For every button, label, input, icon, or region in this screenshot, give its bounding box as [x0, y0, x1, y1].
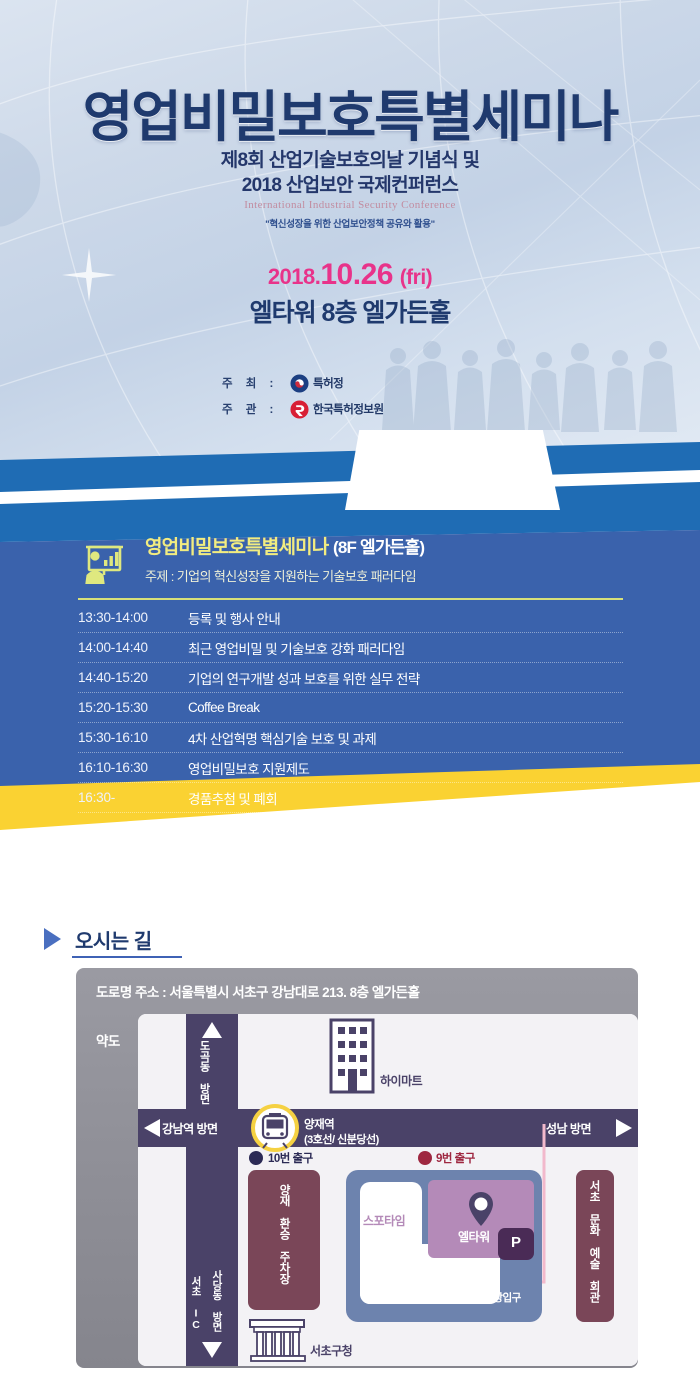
schedule-header: 영업비밀보호특별세미나 (8F 엘가든홀) 주제 : 기업의 혁신성장을 지원하…	[145, 532, 625, 585]
organizer-label: 주 관 :	[222, 401, 290, 417]
road-east-label: 성남 방면	[546, 1120, 591, 1137]
schedule-desc: 영업비밀보호 지원제도	[188, 758, 309, 778]
hero-subtitle: 제8회 산업기술보호의날 기념식 및 2018 산업보안 국제컨퍼런스	[0, 148, 700, 198]
directions-title-underline	[72, 956, 182, 958]
organizer-row: 주 최 : 특허정	[222, 370, 502, 396]
schedule-desc: 경품추첨 및 폐회	[188, 788, 277, 808]
parking-marker-label: P	[511, 1234, 521, 1251]
organizer-name: 특허정	[313, 375, 343, 391]
directions-title: 오시는 길	[75, 925, 152, 954]
date-weekday: (fri)	[400, 266, 433, 289]
himart-label: 하이마트	[380, 1072, 422, 1089]
exit-9-label: 9번 출구	[436, 1150, 475, 1166]
seocho-arts-label: 서초 문화 예술 회관	[586, 1180, 601, 1303]
spotime-label: 스포타임	[363, 1212, 405, 1229]
road-south-label-sadang: 사당동 방면	[210, 1270, 225, 1332]
organizer-row: 주 관 : 한국특허정보원	[222, 396, 502, 422]
organizer-name: 한국특허정보원	[313, 401, 384, 417]
directions-section: 오시는 길 도로명 주소 : 서울특별시 서초구 강남대로 213. 8층 엘가…	[0, 900, 700, 1387]
schedule-table: 13:30-14:00 등록 및 행사 안내 14:00-14:40 최근 영업…	[78, 603, 623, 813]
table-row: 13:30-14:00 등록 및 행사 안내	[78, 603, 623, 633]
organizer-label: 주 최 :	[222, 375, 290, 391]
map-sketch: 도곡동 방면 강남역 방면 성남 방면 양재역 (3호선/ 신분당선) 10번 …	[138, 1014, 638, 1366]
schedule-time: 15:30-16:10	[78, 730, 188, 745]
event-venue: 엘타워 8층 엘가든홀	[0, 293, 700, 329]
table-row: 15:30-16:10 4차 산업혁명 핵심기술 보호 및 과제	[78, 723, 623, 753]
eltower-label: 엘타워	[458, 1228, 490, 1245]
table-row: 16:10-16:30 영업비밀보호 지원제도	[78, 753, 623, 783]
table-row: 16:30- 경품추첨 및 폐회	[78, 783, 623, 813]
schedule-title-location: (8F 엘가든홀)	[333, 538, 424, 557]
schedule-desc: 등록 및 행사 안내	[188, 608, 280, 628]
hero-subtitle-line1: 제8회 산업기술보호의날 기념식 및	[0, 148, 700, 173]
address-text: 도로명 주소 : 서울특별시 서초구 강남대로 213. 8층 엘가든홀	[96, 981, 420, 1001]
table-row: 14:40-15:20 기업의 연구개발 성과 보호를 위한 실무 전략	[78, 663, 623, 693]
hero-section: 영업비밀보호특별세미나 제8회 산업기술보호의날 기념식 및 2018 산업보안…	[0, 0, 700, 470]
building-icon	[331, 1020, 373, 1092]
schedule-title-row: 영업비밀보호특별세미나 (8F 엘가든홀)	[145, 532, 625, 559]
schedule-time: 15:20-15:30	[78, 700, 188, 715]
road-west-label: 강남역 방면	[162, 1120, 218, 1137]
sketch-map-label: 약도	[96, 1030, 120, 1050]
kipi-logo-icon	[290, 400, 309, 419]
exit-10-dot-icon	[249, 1151, 263, 1165]
date-month-day: 10.26	[320, 258, 393, 291]
station-lines-label: (3호선/ 신분당선)	[304, 1131, 379, 1147]
chevron-right-icon	[62, 1027, 76, 1051]
triangle-bullet-icon	[44, 928, 61, 950]
exit-10-label: 10번 출구	[268, 1150, 313, 1166]
date-year: 2018.	[268, 264, 321, 289]
chevron-right-icon	[62, 978, 76, 1002]
yangjae-parking-label: 양재 환승 주차장	[276, 1184, 291, 1284]
schedule-desc: 기업의 연구개발 성과 보호를 위한 실무 전략	[188, 668, 420, 688]
government-building-icon	[250, 1320, 305, 1361]
seocho-office-label: 서초구청	[310, 1342, 352, 1359]
road-north-label: 도곡동 방면	[196, 1040, 212, 1104]
table-row: 14:00-14:40 최근 영업비밀 및 기술보호 강화 패러다임	[78, 633, 623, 663]
schedule-topic: 주제 : 기업의 혁신성장을 지원하는 기술보호 패러다임	[145, 566, 625, 585]
schedule-desc: 최근 영업비밀 및 기술보호 강화 패러다임	[188, 638, 405, 658]
map-card: 도로명 주소 : 서울특별시 서초구 강남대로 213. 8층 엘가든홀 약도	[62, 968, 638, 1368]
schedule-section: 영업비밀보호특별세미나 (8F 엘가든홀) 주제 : 기업의 혁신성장을 지원하…	[0, 470, 700, 870]
exit-9-dot-icon	[418, 1151, 432, 1165]
train-icon	[253, 1106, 297, 1150]
table-row: 15:20-15:30 Coffee Break	[78, 693, 623, 723]
station-name-label: 양재역	[304, 1116, 334, 1132]
schedule-desc: 4차 산업혁명 핵심기술 보호 및 과제	[188, 728, 376, 748]
road-south-label-ic: 서초 IC	[190, 1276, 202, 1331]
page-title: 영업비밀보호특별세미나	[0, 72, 700, 152]
hero-english-subtitle: International Industrial Security Confer…	[0, 199, 700, 211]
schedule-time: 14:00-14:40	[78, 640, 188, 655]
kipo-logo-icon	[290, 374, 309, 393]
poster-root: 영업비밀보호특별세미나 제8회 산업기술보호의날 기념식 및 2018 산업보안…	[0, 0, 700, 1387]
schedule-time: 14:40-15:20	[78, 670, 188, 685]
event-date: 2018.10.26 (fri)	[0, 258, 700, 292]
schedule-title: 영업비밀보호특별세미나	[145, 537, 328, 558]
schedule-time: 16:10-16:30	[78, 760, 188, 775]
hero-subtitle-line2: 2018 산업보안 국제컨퍼런스	[0, 173, 700, 198]
schedule-divider	[78, 598, 623, 600]
schedule-desc: Coffee Break	[188, 700, 259, 715]
hero-quote: "혁신성장을 위한 산업보안정책 공유와 활용"	[0, 216, 700, 230]
schedule-time: 13:30-14:00	[78, 610, 188, 625]
parking-entrance-label: 주차장입구	[475, 1290, 521, 1305]
schedule-time: 16:30-	[78, 790, 188, 805]
organizers-block: 주 최 : 특허정 주 관 : 한국특허정보원	[222, 370, 502, 422]
presentation-board-icon	[78, 542, 126, 590]
